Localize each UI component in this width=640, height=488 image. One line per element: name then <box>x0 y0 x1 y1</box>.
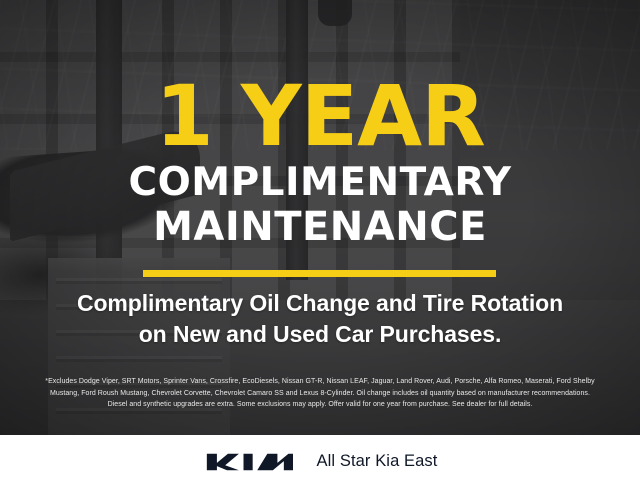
subheadline-line-2: on New and Used Car Purchases. <box>0 319 640 350</box>
yellow-divider-bar <box>143 270 496 277</box>
hero-background-photo: 1 YEAR COMPLIMENTARY MAINTENANCE Complim… <box>0 0 640 435</box>
headline-block: 1 YEAR COMPLIMENTARY MAINTENANCE <box>0 78 640 248</box>
headline-year: 1 YEAR <box>0 78 640 155</box>
promotional-banner: 1 YEAR COMPLIMENTARY MAINTENANCE Complim… <box>0 0 640 488</box>
kia-logo-icon <box>203 451 295 473</box>
subheadline-block: Complimentary Oil Change and Tire Rotati… <box>0 288 640 349</box>
dealer-footer: All Star Kia East <box>0 435 640 488</box>
headline-maintenance: MAINTENANCE <box>0 207 640 248</box>
headline-complimentary: COMPLIMENTARY <box>0 163 640 203</box>
disclaimer-line-2: Mustang, Ford Roush Mustang, Chevrolet C… <box>8 388 632 400</box>
disclaimer-line-1: *Excludes Dodge Viper, SRT Motors, Sprin… <box>8 376 632 388</box>
subheadline-line-1: Complimentary Oil Change and Tire Rotati… <box>0 288 640 319</box>
disclaimer-line-3: Diesel and synthetic upgrades are extra.… <box>8 399 632 411</box>
disclaimer-block: *Excludes Dodge Viper, SRT Motors, Sprin… <box>8 376 632 411</box>
dealer-name-label: All Star Kia East <box>317 452 438 471</box>
